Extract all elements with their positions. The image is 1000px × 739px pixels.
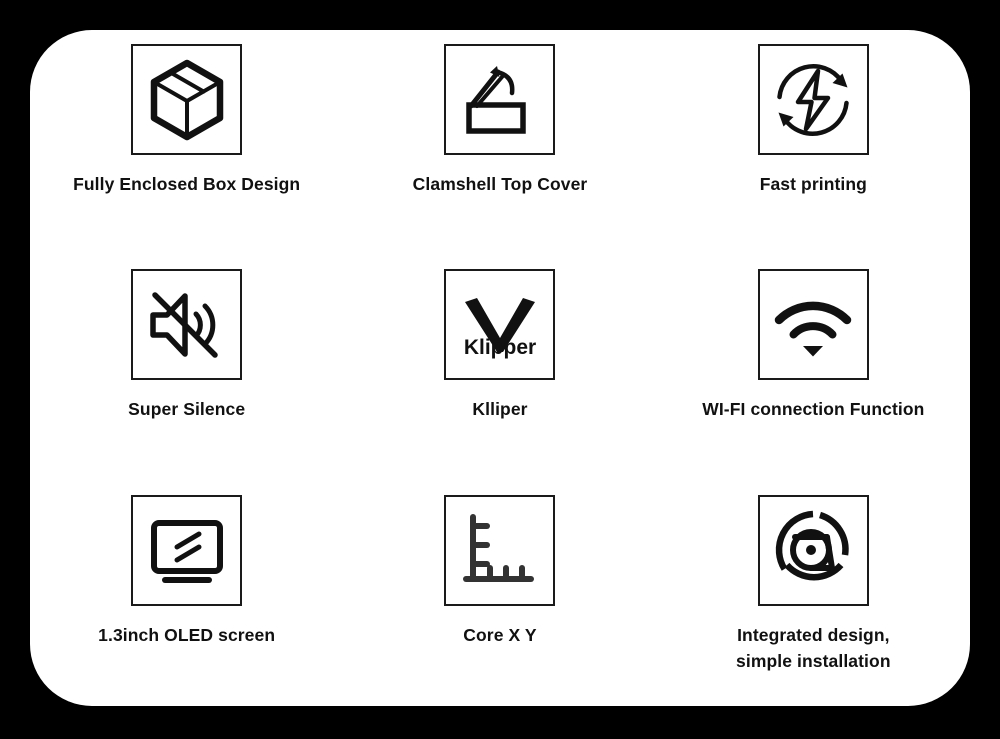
feature-item-super-silence: Super Silence — [30, 255, 343, 480]
icon-frame — [131, 44, 242, 155]
clamshell-lid-open-icon — [457, 57, 543, 143]
feature-item-fast-printing: Fast printing — [657, 30, 970, 255]
icon-frame — [444, 44, 555, 155]
icon-frame — [131, 269, 242, 380]
feature-item-fully-enclosed-box-design: Fully Enclosed Box Design — [30, 30, 343, 255]
icon-frame — [444, 495, 555, 606]
feature-label: Fast printing — [760, 171, 867, 198]
feature-card: Fully Enclosed Box Design — [30, 30, 970, 706]
feature-item-integrated-design: Integrated design, simple installation — [657, 481, 970, 706]
icon-frame — [758, 44, 869, 155]
icon-frame — [758, 495, 869, 606]
closed-box-icon — [144, 57, 230, 143]
feature-item-core-xy: Core X Y — [343, 481, 656, 706]
icon-frame: Klipper — [444, 269, 555, 380]
feature-label: Super Silence — [128, 396, 245, 423]
feature-label: 1.3inch OLED screen — [98, 622, 275, 649]
feature-item-wifi-connection: WI-FI connection Function — [657, 255, 970, 480]
wifi-signal-icon — [770, 282, 856, 368]
feature-label: Clamshell Top Cover — [413, 171, 588, 198]
feature-item-clamshell-top-cover: Clamshell Top Cover — [343, 30, 656, 255]
klipper-wordmark: Klipper — [464, 336, 536, 359]
oled-monitor-icon — [144, 507, 230, 593]
feature-item-klipper: Klipper Klliper — [343, 255, 656, 480]
feature-label: Klliper — [472, 396, 527, 423]
feature-label: Core X Y — [463, 622, 536, 649]
feature-label: WI-FI connection Function — [702, 396, 924, 423]
integrated-target-rings-icon — [770, 507, 856, 593]
klipper-logo-icon: Klipper — [455, 286, 545, 364]
fast-cycle-lightning-icon — [770, 57, 856, 143]
feature-item-oled-screen: 1.3inch OLED screen — [30, 481, 343, 706]
muted-speaker-icon — [144, 282, 230, 368]
feature-grid: Fully Enclosed Box Design — [30, 30, 970, 706]
icon-frame — [131, 495, 242, 606]
xy-axis-chart-icon — [461, 511, 539, 589]
icon-frame — [758, 269, 869, 380]
feature-label: Integrated design, simple installation — [736, 622, 891, 675]
feature-label: Fully Enclosed Box Design — [73, 171, 300, 198]
